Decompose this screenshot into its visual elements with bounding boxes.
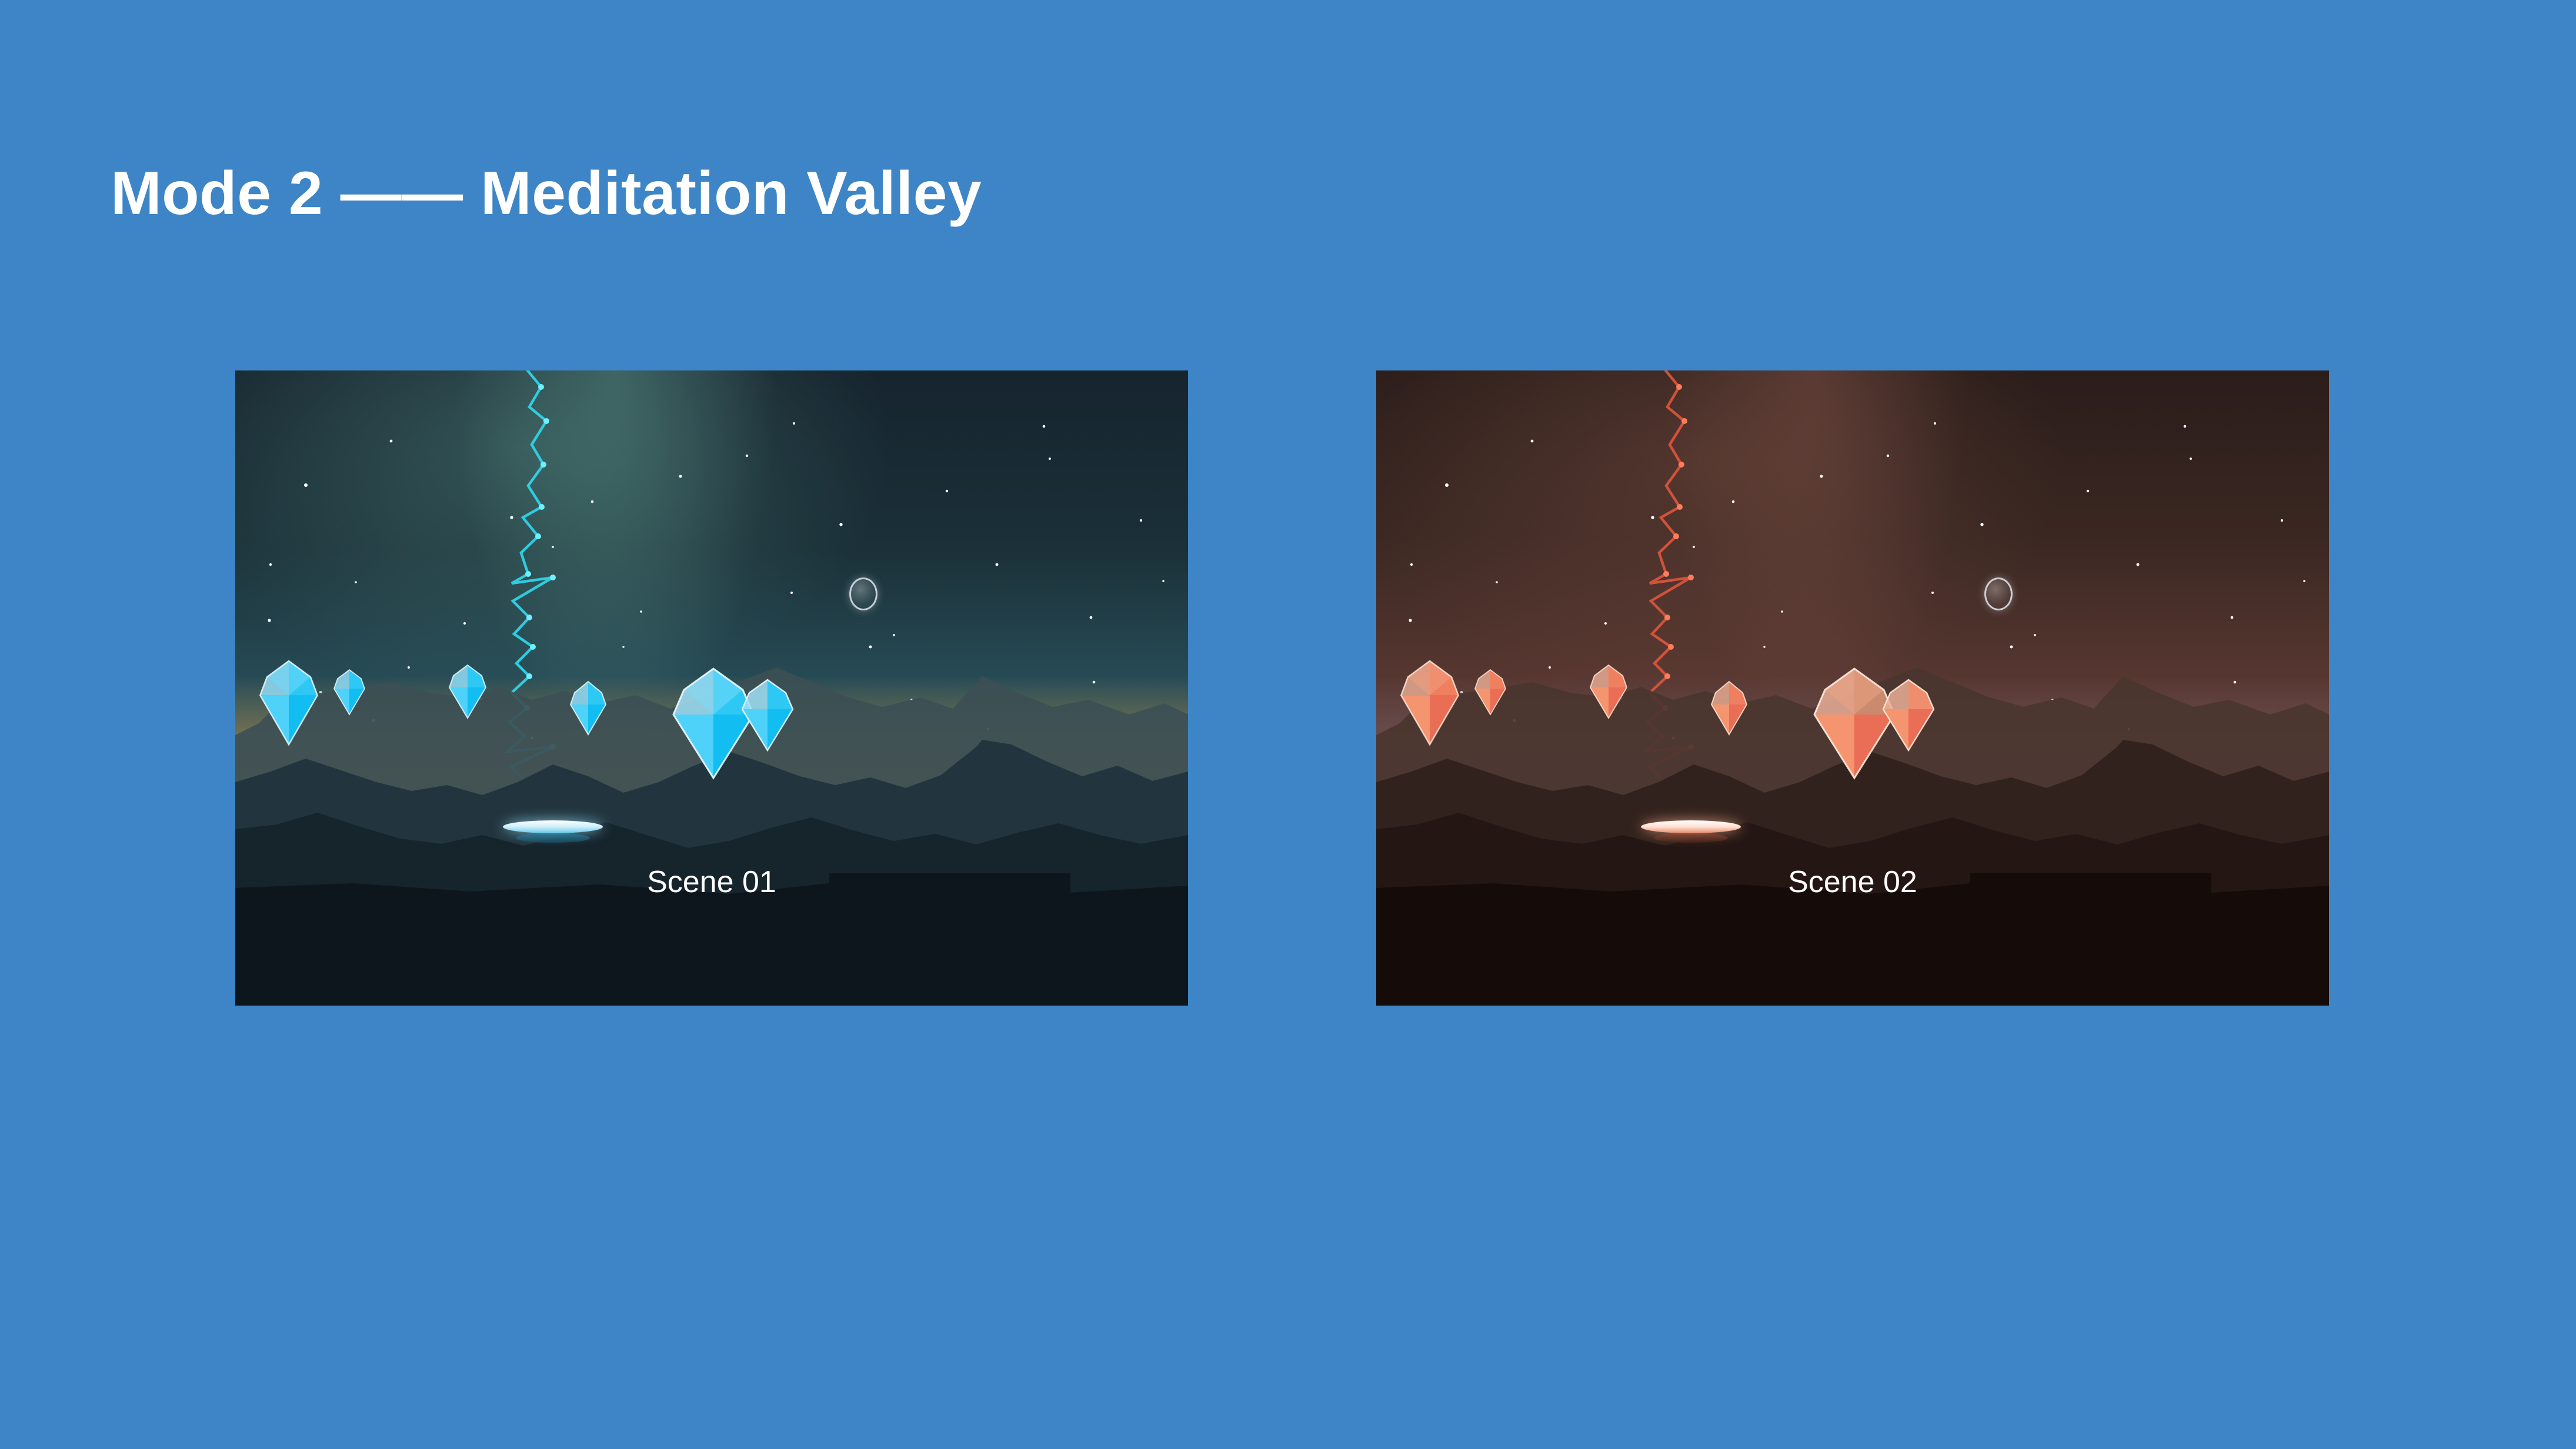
moon-orb <box>849 577 877 610</box>
scene-viewport-2 <box>1376 370 2329 1006</box>
crystal-gem[interactable] <box>449 665 486 719</box>
crystal-gem-heart-large[interactable] <box>1814 667 1894 779</box>
platform-disc-bottom <box>516 833 590 843</box>
meditation-platform <box>503 820 603 846</box>
scene-panel-2[interactable] <box>1376 370 2329 1006</box>
scene-stage-1 <box>235 370 1188 1006</box>
crystal-gem[interactable] <box>334 669 365 715</box>
platform-disc-top <box>1641 820 1741 833</box>
crystal-gem[interactable] <box>570 681 606 735</box>
meditation-platform <box>1641 820 1741 846</box>
scene-panel-1[interactable] <box>235 370 1188 1006</box>
scene-stage-2 <box>1376 370 2329 1006</box>
platform-disc-top <box>503 820 603 833</box>
moon-orb <box>1984 577 2013 610</box>
platform-disc-bottom <box>1654 833 1728 843</box>
page-title: Mode 2 —— Meditation Valley <box>111 160 982 227</box>
crystal-gem-heart-large[interactable] <box>673 667 753 779</box>
crystal-gem[interactable] <box>1401 660 1459 746</box>
scene-viewport-1 <box>235 370 1188 1006</box>
crystal-gem[interactable] <box>1475 669 1506 715</box>
crystal-gem[interactable] <box>1590 665 1627 719</box>
scene-caption-1: Scene 01 <box>235 864 1188 900</box>
scene-caption-2: Scene 02 <box>1376 864 2329 900</box>
crystal-gem-heart-small[interactable] <box>742 679 793 752</box>
crystal-gem[interactable] <box>260 660 318 746</box>
crystal-gem-heart-small[interactable] <box>1883 679 1934 752</box>
crystal-gem[interactable] <box>1711 681 1747 735</box>
